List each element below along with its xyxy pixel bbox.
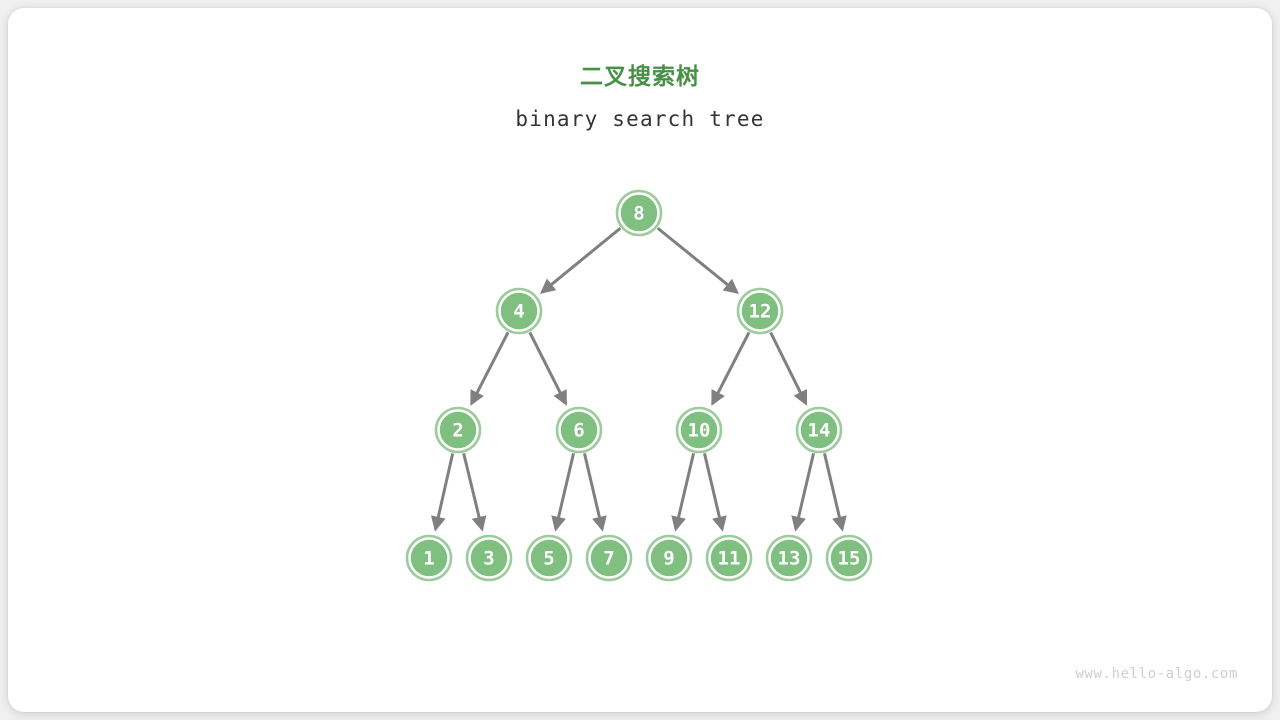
tree-edge [796, 453, 814, 529]
tree-edge [584, 453, 602, 529]
tree-edge [436, 453, 453, 529]
diagram-stage: 二叉搜索树 binary search tree 841226101413579… [0, 0, 1280, 720]
node-value-label: 11 [718, 548, 741, 570]
tree-edge [471, 332, 508, 403]
tree-edge [464, 453, 482, 529]
tree-node: 11 [707, 536, 751, 580]
tree-node: 7 [587, 536, 631, 580]
node-value-label: 5 [543, 548, 554, 570]
tree-node: 10 [677, 408, 721, 452]
tree-node: 12 [738, 289, 782, 333]
tree-node: 8 [617, 191, 661, 235]
tree-edge [824, 453, 842, 529]
tree-edge [556, 453, 574, 529]
tree-edges [436, 228, 843, 529]
binary-search-tree-diagram: 841226101413579111315 [0, 0, 1280, 720]
tree-node: 15 [827, 536, 871, 580]
tree-nodes: 841226101413579111315 [407, 191, 871, 580]
node-value-label: 10 [688, 420, 711, 442]
node-value-label: 15 [838, 548, 861, 570]
node-value-label: 7 [603, 548, 614, 570]
tree-node: 4 [497, 289, 541, 333]
tree-node: 6 [557, 408, 601, 452]
site-watermark: www.hello-algo.com [1075, 666, 1238, 682]
tree-node: 14 [797, 408, 841, 452]
node-value-label: 12 [749, 301, 772, 323]
tree-edge [530, 332, 566, 403]
node-value-label: 14 [808, 420, 831, 442]
node-value-label: 3 [483, 548, 494, 570]
node-value-label: 13 [778, 548, 801, 570]
tree-edge [712, 332, 749, 403]
tree-node: 1 [407, 536, 451, 580]
node-value-label: 6 [573, 420, 584, 442]
tree-edge [658, 228, 737, 292]
tree-node: 3 [467, 536, 511, 580]
node-value-label: 8 [633, 203, 644, 225]
tree-edge [771, 333, 806, 404]
tree-edge [542, 228, 621, 292]
tree-node: 2 [436, 408, 480, 452]
node-value-label: 1 [423, 548, 434, 570]
node-value-label: 2 [452, 420, 463, 442]
node-value-label: 4 [513, 301, 524, 323]
tree-node: 9 [647, 536, 691, 580]
tree-node: 5 [527, 536, 571, 580]
tree-edge [676, 453, 694, 529]
tree-edge [704, 453, 722, 529]
tree-node: 13 [767, 536, 811, 580]
node-value-label: 9 [663, 548, 674, 570]
